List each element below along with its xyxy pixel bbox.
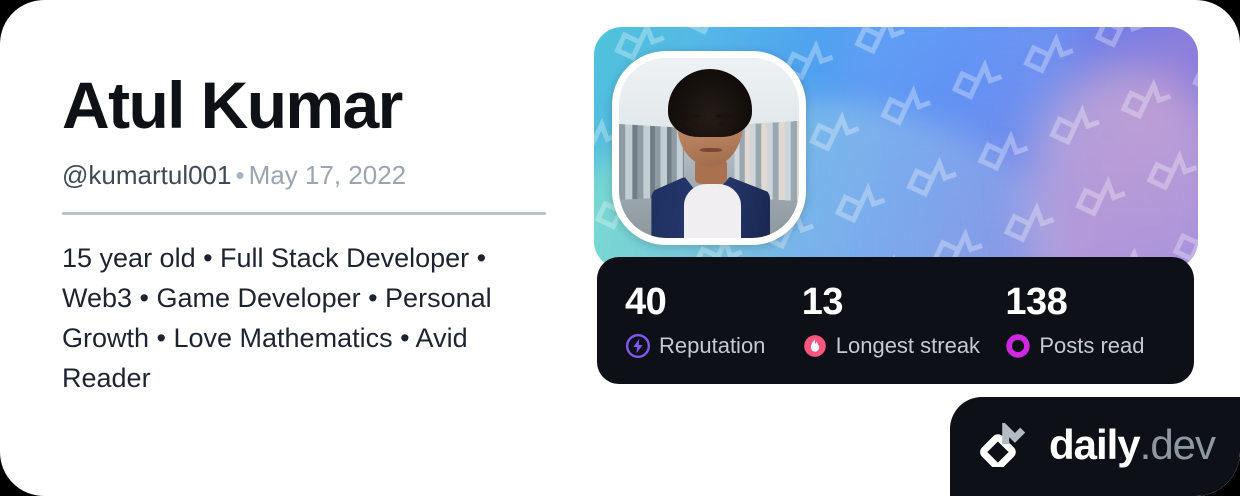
photo-brow-left [684, 114, 700, 118]
posts-read-ring-icon [1005, 333, 1031, 359]
stat-value: 40 [625, 283, 802, 321]
card-surface: Atul Kumar @kumartul001•May 17, 2022 15 … [0, 0, 1240, 496]
stat-label-row: Reputation [625, 333, 802, 359]
joined-date: May 17, 2022 [249, 160, 407, 190]
divider [62, 212, 546, 215]
stat-posts-read: 138 Posts read [1005, 283, 1194, 359]
stat-label-row: Posts read [1005, 333, 1194, 359]
stat-label-row: Longest streak [802, 333, 1006, 359]
stat-longest-streak: 13 Longest streak [802, 283, 1006, 359]
daily-dev-brand-badge: daily.dev [950, 397, 1240, 496]
stat-reputation: 40 Reputation [625, 283, 802, 359]
stat-value: 138 [1005, 283, 1194, 321]
photo-mouth [700, 148, 722, 152]
stat-label: Posts read [1039, 333, 1144, 359]
profile-handle: @kumartul001 [62, 160, 231, 190]
handle-and-date-row: @kumartul001•May 17, 2022 [62, 161, 552, 190]
avatar [612, 51, 806, 245]
stat-label: Longest streak [836, 333, 980, 359]
streak-flame-icon [802, 333, 828, 359]
brand-inner: daily.dev [975, 423, 1215, 467]
separator-dot: • [231, 160, 248, 190]
stat-value: 13 [802, 283, 1006, 321]
dev-card: Atul Kumar @kumartul001•May 17, 2022 15 … [0, 0, 1240, 496]
brand-tld: .dev [1140, 424, 1215, 466]
page-title: Atul Kumar [62, 72, 552, 139]
photo-brow-right [716, 114, 732, 118]
reputation-bolt-icon [625, 333, 651, 359]
profile-bio: 15 year old • Full Stack Developer • Web… [62, 239, 542, 399]
stats-bar: 40 Reputation 13 Longest streak [597, 257, 1194, 384]
photo-shirt [684, 184, 742, 238]
profile-info-column: Atul Kumar @kumartul001•May 17, 2022 15 … [62, 72, 552, 399]
daily-dev-logo-icon [975, 423, 1035, 467]
avatar-photo [619, 58, 799, 238]
brand-name: daily [1049, 424, 1140, 466]
stat-label: Reputation [659, 333, 765, 359]
